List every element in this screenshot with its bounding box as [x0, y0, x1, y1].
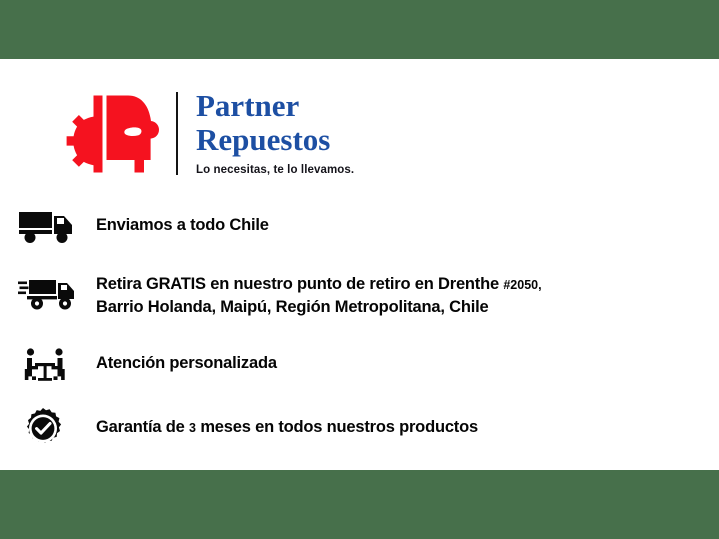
list-item: Garantía de 3 meses en todos nuestros pr…	[0, 406, 719, 458]
feature-list: Enviamos a todo Chile	[0, 204, 719, 458]
list-item: Retira GRATIS en nuestro punto de retiro…	[0, 270, 719, 330]
bottom-green-band	[0, 470, 719, 539]
vertical-divider	[176, 92, 178, 175]
people-at-table-icon	[18, 342, 80, 388]
warranty-text-after: meses en todos nuestros productos	[200, 418, 478, 436]
brand-line-2: Repuestos	[196, 124, 354, 155]
pickup-text-line2: Barrio Holanda, Maipú, Región Metropolit…	[96, 298, 488, 316]
brand-line-1: Partner	[196, 90, 354, 121]
brand-wordmark: Partner Repuestos Lo necesitas, te lo ll…	[196, 90, 354, 177]
warranty-text-before: Garantía de	[96, 418, 185, 436]
warranty-months-value: 3	[189, 421, 196, 435]
moving-truck-icon	[18, 270, 80, 316]
pickup-text-main: Retira GRATIS en nuestro punto de retiro…	[96, 275, 499, 293]
brand-tagline: Lo necesitas, te lo llevamos.	[196, 164, 354, 177]
promo-banner: Partner Repuestos Lo necesitas, te lo ll…	[0, 0, 719, 539]
list-item-label: Retira GRATIS en nuestro punto de retiro…	[80, 270, 719, 318]
list-item: Atención personalizada	[0, 342, 719, 394]
list-item: Enviamos a todo Chile	[0, 204, 719, 256]
brand-logo: Partner Repuestos Lo necesitas, te lo ll…	[56, 90, 354, 177]
pickup-address-number: #2050,	[503, 278, 541, 292]
banner-content: Partner Repuestos Lo necesitas, te lo ll…	[0, 59, 719, 470]
top-green-band	[0, 0, 719, 59]
list-item-label: Enviamos a todo Chile	[80, 204, 719, 236]
gear-car-logo-icon	[56, 92, 164, 176]
list-item-label: Atención personalizada	[80, 342, 719, 374]
guarantee-badge-check-icon	[18, 406, 80, 452]
delivery-truck-icon	[18, 204, 80, 250]
list-item-label: Garantía de 3 meses en todos nuestros pr…	[80, 406, 719, 439]
